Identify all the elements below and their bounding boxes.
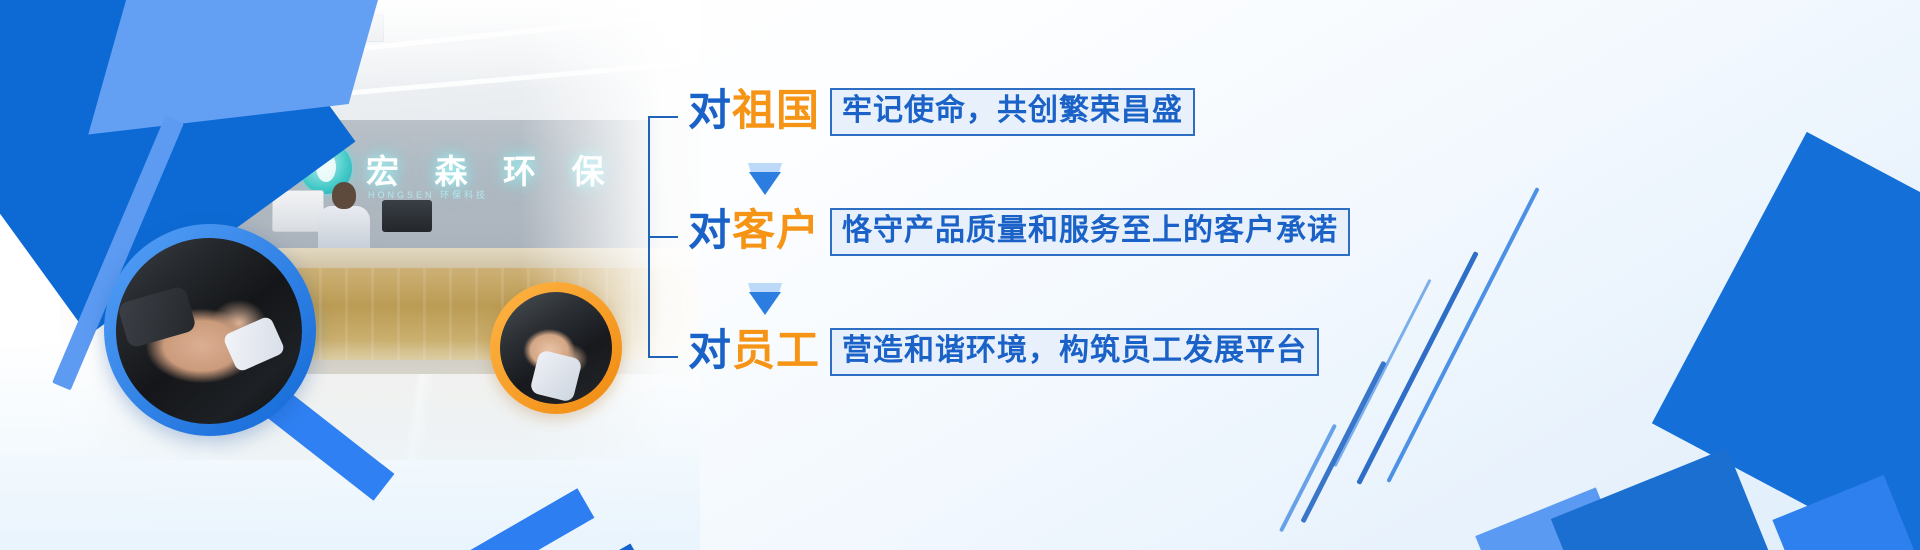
commitment-prefix: 对 — [688, 86, 732, 136]
commitment-label-customer: 对客户 — [688, 210, 820, 253]
decor-diagonal-line-1 — [1386, 187, 1539, 483]
commitment-label-country: 对祖国 — [688, 90, 820, 133]
triangle-down-icon-cap — [748, 283, 782, 292]
commitment-keyword: 祖国 — [732, 86, 820, 136]
decor-diagonal-line-2 — [1356, 251, 1478, 485]
triangle-down-icon — [748, 283, 782, 313]
bracket-tick-2 — [648, 236, 678, 238]
corporate-commitment-banner: 宏 森 环 保 HONGSEN 环保科技 — [0, 0, 1920, 550]
triangle-down-icon — [748, 163, 782, 193]
handshake-circle-photo — [116, 238, 302, 424]
handshake-cuff — [222, 315, 286, 373]
triangle-down-icon-body — [749, 292, 781, 315]
bracket-tick-1 — [648, 116, 678, 118]
commitment-phrase-employee: 营造和谐环境，构筑员工发展平台 — [830, 328, 1319, 376]
commitment-prefix: 对 — [688, 206, 732, 256]
applause-circle-photo — [500, 292, 612, 404]
bracket-tick-3 — [648, 356, 678, 358]
commitment-label-employee: 对员工 — [688, 330, 820, 373]
commitment-keyword: 客户 — [732, 206, 820, 256]
commitment-prefix: 对 — [688, 326, 732, 376]
commitment-phrase-customer: 恪守产品质量和服务至上的客户承诺 — [830, 208, 1350, 256]
commitment-phrase-country: 牢记使命，共创繁荣昌盛 — [830, 88, 1195, 136]
applause-shirt — [529, 349, 582, 402]
commitment-row-employee: 对员工 营造和谐环境，构筑员工发展平台 — [688, 328, 1319, 376]
commitment-row-customer: 对客户 恪守产品质量和服务至上的客户承诺 — [688, 208, 1350, 256]
reception-monitor-secondary — [382, 200, 432, 232]
commitment-list: 对祖国 牢记使命，共创繁荣昌盛 对客户 恪守产品质量和服务至上的客户承诺 对员工… — [648, 78, 1348, 388]
receptionist-head — [332, 182, 356, 209]
receptionist-body — [318, 206, 370, 252]
commitment-row-country: 对祖国 牢记使命，共创繁荣昌盛 — [688, 88, 1195, 136]
handshake-sleeve — [117, 285, 197, 349]
triangle-down-icon-body — [749, 172, 781, 195]
commitment-keyword: 员工 — [732, 326, 820, 376]
triangle-down-icon-cap — [748, 163, 782, 172]
